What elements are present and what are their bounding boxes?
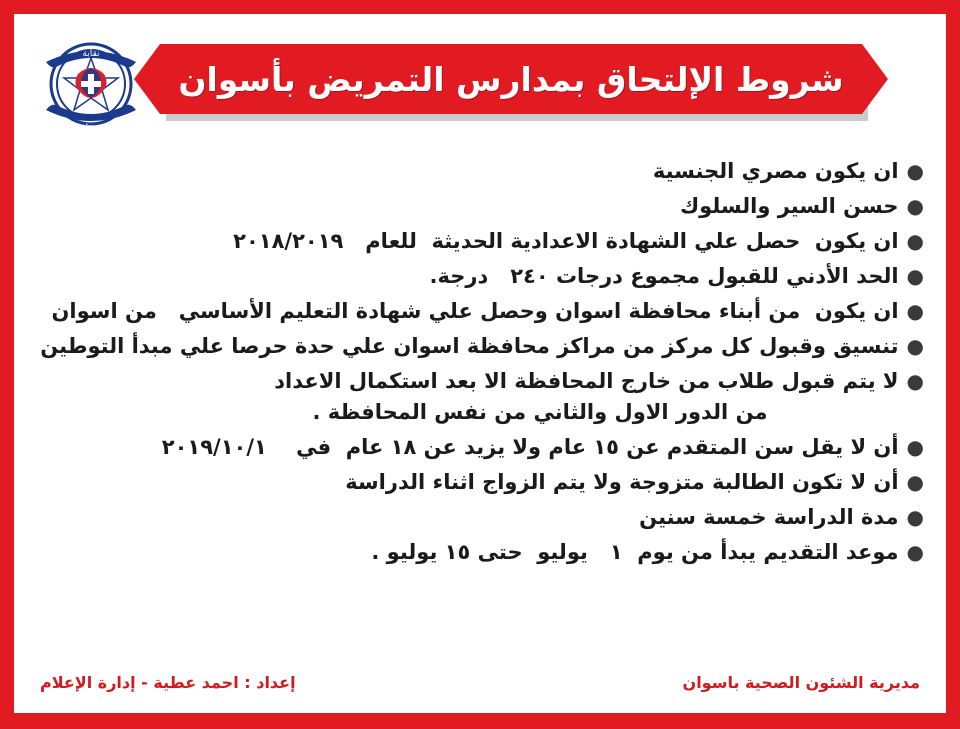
poster-root: نقابة نقابة الأطباء شروط الإلتحاق بمدارس… xyxy=(0,0,960,729)
nursing-syndicate-logo-icon: نقابة نقابة الأطباء xyxy=(32,34,150,138)
list-item: ● ان يكون من أبناء محافظة اسوان وحصل علي… xyxy=(36,294,924,328)
list-item: ● لا يتم قبول طلاب من خارج المحافظة الا … xyxy=(36,364,924,398)
svg-text:نقابة الأطباء: نقابة الأطباء xyxy=(71,123,111,133)
bullet-icon: ● xyxy=(907,430,924,464)
list-item-text: أن لا يقل سن المتقدم عن ١٥ عام ولا يزيد … xyxy=(36,430,899,464)
bullet-icon: ● xyxy=(907,154,924,188)
bullet-icon: ● xyxy=(907,465,924,499)
list-item: ● الحد الأدني للقبول مجموع درجات ٢٤٠ درج… xyxy=(36,259,924,293)
list-item: ● حسن السير والسلوك xyxy=(36,189,924,223)
conditions-list: ● ان يكون مصري الجنسية ● حسن السير والسل… xyxy=(36,154,924,570)
list-item-text: حسن السير والسلوك xyxy=(36,189,899,223)
bullet-icon: ● xyxy=(907,189,924,223)
list-item: ● تنسيق وقبول كل مركز من مراكز محافظة اس… xyxy=(36,329,924,363)
svg-text:نقابة: نقابة xyxy=(82,49,99,59)
page-title: شروط الإلتحاق بمدارس التمريض بأسوان xyxy=(178,60,843,99)
list-item-text: ان يكون مصري الجنسية xyxy=(36,154,899,188)
list-item-text: ان يكون من أبناء محافظة اسوان وحصل علي ش… xyxy=(36,294,899,328)
footer-organization: مديرية الشئون الصحية باسوان xyxy=(683,673,920,692)
footer-credit: إعداد : احمد عطية - إدارة الإعلام xyxy=(40,673,296,692)
list-item: ● أن لا تكون الطالبة متزوجة ولا يتم الزو… xyxy=(36,465,924,499)
list-item: ● ان يكون مصري الجنسية xyxy=(36,154,924,188)
bullet-icon: ● xyxy=(907,259,924,293)
list-item-text: تنسيق وقبول كل مركز من مراكز محافظة اسوا… xyxy=(36,329,899,363)
bullet-icon: ● xyxy=(907,535,924,569)
list-item: ● موعد التقديم يبدأ من يوم ١ يوليو حتى ١… xyxy=(36,535,924,569)
poster-inner: نقابة نقابة الأطباء شروط الإلتحاق بمدارس… xyxy=(14,14,946,713)
bullet-icon: ● xyxy=(907,294,924,328)
list-item-text: مدة الدراسة خمسة سنين xyxy=(36,500,899,534)
bullet-icon: ● xyxy=(907,500,924,534)
list-item: ● أن لا يقل سن المتقدم عن ١٥ عام ولا يزي… xyxy=(36,430,924,464)
bullet-icon: ● xyxy=(907,364,924,398)
list-item: ● ان يكون حصل علي الشهادة الاعدادية الحد… xyxy=(36,224,924,258)
bullet-icon: ● xyxy=(907,329,924,363)
list-item-text: أن لا تكون الطالبة متزوجة ولا يتم الزواج… xyxy=(36,465,899,499)
bullet-icon: ● xyxy=(907,224,924,258)
list-item-text: ان يكون حصل علي الشهادة الاعدادية الحديث… xyxy=(36,224,899,258)
poster-footer: مديرية الشئون الصحية باسوان إعداد : احمد… xyxy=(40,673,920,699)
poster-header: نقابة نقابة الأطباء شروط الإلتحاق بمدارس… xyxy=(14,32,946,127)
list-item-text: لا يتم قبول طلاب من خارج المحافظة الا بع… xyxy=(36,364,899,398)
list-item: ● مدة الدراسة خمسة سنين xyxy=(36,500,924,534)
title-banner: شروط الإلتحاق بمدارس التمريض بأسوان xyxy=(160,44,862,114)
list-item-text: موعد التقديم يبدأ من يوم ١ يوليو حتى ١٥ … xyxy=(36,535,899,569)
list-item-continuation: من الدور الاول والثاني من نفس المحافظة . xyxy=(36,395,924,429)
list-item-text: الحد الأدني للقبول مجموع درجات ٢٤٠ درجة. xyxy=(36,259,899,293)
